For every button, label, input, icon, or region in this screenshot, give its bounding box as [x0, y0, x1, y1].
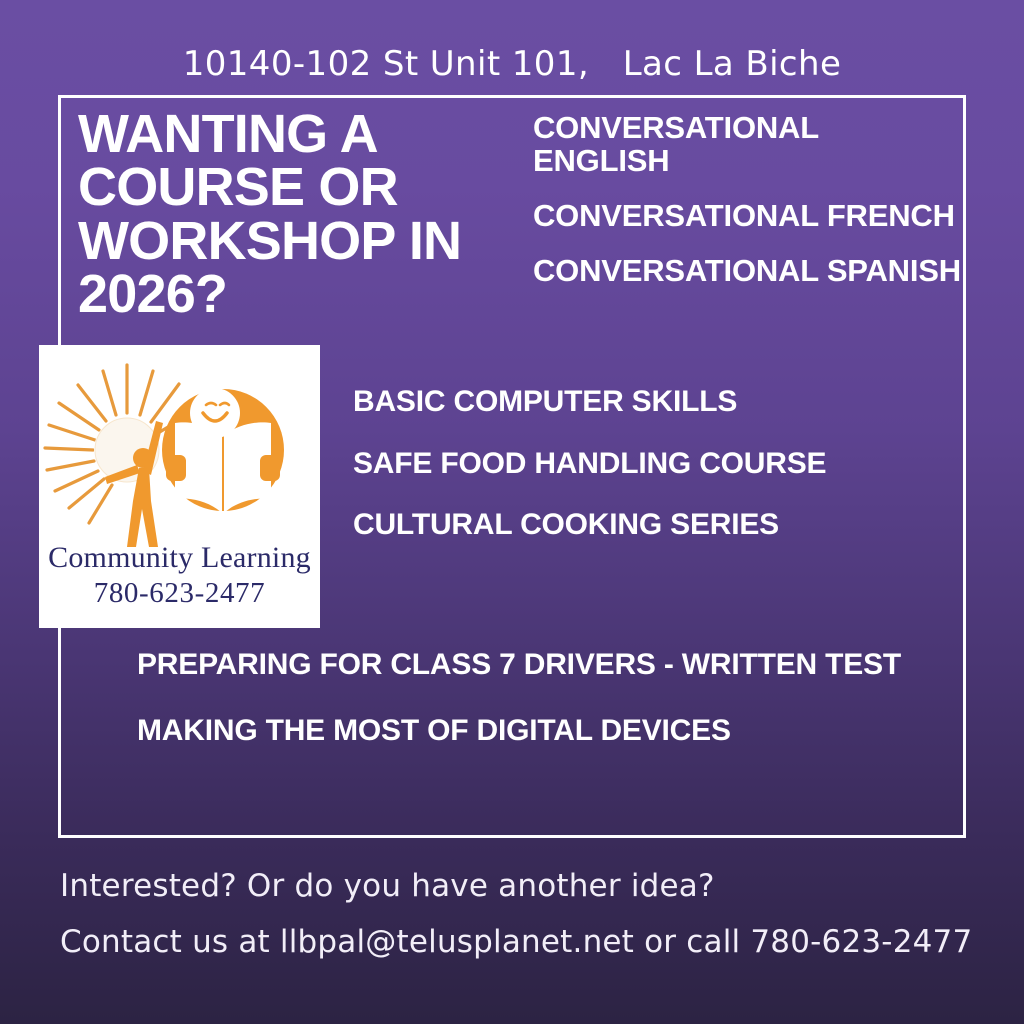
poster-canvas: 10140-102 St Unit 101, Lac La Biche WANT…: [0, 0, 1024, 1024]
footer: Interested? Or do you have another idea?…: [60, 868, 980, 960]
course-item-making-the-most-of-digital-devices: MAKING THE MOST OF DIGITAL DEVICES: [137, 714, 937, 748]
logo-phone: 780-623-2477: [39, 577, 320, 610]
course-item-safe-food-handling: SAFE FOOD HANDLING COURSE: [353, 447, 963, 481]
logo-card: Community Learning 780-623-2477: [39, 345, 320, 628]
community-learning-logo-art: [39, 351, 320, 551]
course-item-conversational-french: CONVERSATIONAL FRENCH: [533, 200, 963, 233]
logo-name: Community Learning: [39, 541, 320, 575]
footer-contact-line: Contact us at llbpal@telusplanet.net or …: [60, 924, 980, 960]
lower-course-list: PREPARING FOR CLASS 7 DRIVERS - WRITTEN …: [137, 648, 937, 747]
course-item-conversational-english: CONVERSATIONAL ENGLISH: [533, 112, 963, 178]
course-item-class-7-drivers-written-test: PREPARING FOR CLASS 7 DRIVERS - WRITTEN …: [137, 648, 937, 682]
course-item-cultural-cooking-series: CULTURAL COOKING SERIES: [353, 508, 963, 542]
address-header: 10140-102 St Unit 101, Lac La Biche: [0, 44, 1024, 84]
language-course-list: CONVERSATIONAL ENGLISH CONVERSATIONAL FR…: [533, 112, 963, 309]
footer-interest-line: Interested? Or do you have another idea?: [60, 868, 980, 904]
course-item-basic-computer-skills: BASIC COMPUTER SKILLS: [353, 385, 963, 419]
smiling-face-reading-book-icon: [162, 388, 284, 513]
page-title: WANTING A COURSE OR WORKSHOP IN 2026?: [78, 108, 518, 322]
middle-course-list: BASIC COMPUTER SKILLS SAFE FOOD HANDLING…: [353, 385, 963, 542]
course-item-conversational-spanish: CONVERSATIONAL SPANISH: [533, 255, 963, 288]
